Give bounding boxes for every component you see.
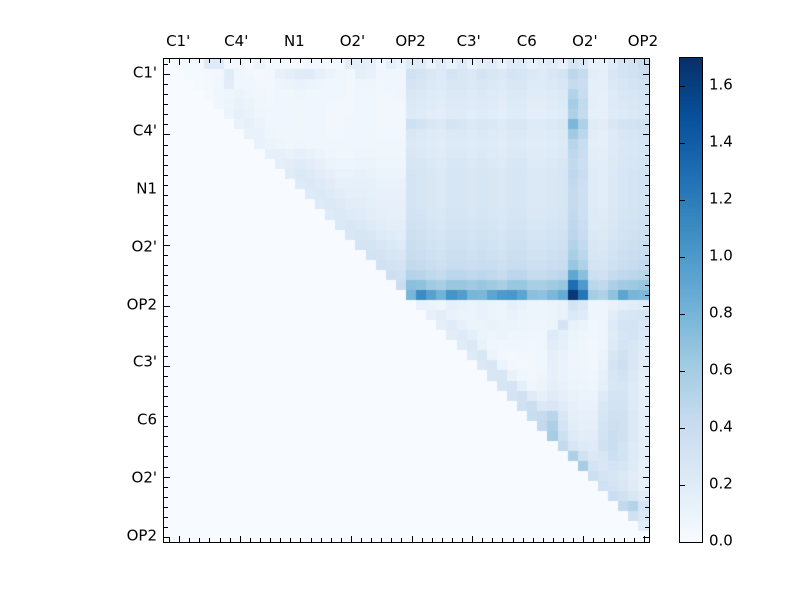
x-tick (230, 59, 231, 63)
y-tick (645, 326, 649, 327)
x-tick-label: O2' (340, 34, 365, 49)
x-tick (513, 538, 514, 542)
x-tick (290, 59, 291, 63)
x-tick (452, 538, 453, 542)
x-tick (513, 59, 514, 63)
y-tick (164, 316, 168, 317)
y-tick-label: C1' (133, 66, 157, 81)
y-tick (164, 497, 168, 498)
y-tick (645, 225, 649, 226)
y-tick (164, 185, 168, 186)
colorbar-tick (680, 542, 685, 543)
y-tick (645, 386, 649, 387)
x-tick (482, 59, 483, 63)
y-tick (164, 165, 168, 166)
y-tick (164, 517, 168, 518)
y-tick (164, 436, 168, 437)
y-tick (645, 195, 649, 196)
x-tick (371, 59, 372, 63)
x-tick (502, 59, 503, 63)
colorbar-tick (680, 428, 685, 429)
colorbar-tick-label: 0.6 (709, 363, 733, 378)
x-tick (492, 59, 493, 63)
x-tick (401, 59, 402, 63)
x-tick (432, 538, 433, 542)
y-tick (164, 336, 168, 337)
y-tick (164, 306, 170, 307)
y-tick-label: OP2 (127, 528, 157, 543)
y-tick (164, 396, 168, 397)
x-tick (452, 59, 453, 63)
x-tick (311, 538, 312, 542)
y-tick (164, 155, 168, 156)
y-tick (645, 507, 649, 508)
x-tick (189, 538, 190, 542)
x-tick (593, 538, 594, 542)
y-tick (164, 527, 168, 528)
y-tick (164, 346, 168, 347)
colorbar-tick-label: 1.0 (709, 249, 733, 264)
y-tick (164, 386, 168, 387)
colorbar-tick-label: 1.6 (709, 78, 733, 93)
x-tick (573, 538, 574, 542)
y-tick-label: OP2 (127, 297, 157, 312)
x-tick (482, 538, 483, 542)
x-tick (240, 59, 241, 65)
colorbar-tick (680, 314, 685, 315)
x-tick-label: C6 (517, 34, 537, 49)
y-tick (164, 537, 170, 538)
x-tick (533, 538, 534, 542)
x-tick (260, 59, 261, 63)
x-tick (260, 538, 261, 542)
y-tick (645, 346, 649, 347)
y-tick (645, 376, 649, 377)
x-tick (523, 538, 524, 542)
x-tick-label: OP2 (395, 34, 425, 49)
y-tick (164, 487, 168, 488)
x-tick (624, 59, 625, 63)
x-tick (199, 538, 200, 542)
y-tick (643, 306, 649, 307)
y-tick (645, 114, 649, 115)
y-tick (645, 406, 649, 407)
x-tick (391, 59, 392, 63)
x-tick (250, 59, 251, 63)
x-tick (634, 538, 635, 542)
y-tick (643, 134, 649, 135)
y-tick (164, 376, 168, 377)
x-tick (472, 59, 473, 65)
x-tick (422, 59, 423, 63)
y-tick (164, 446, 168, 447)
x-tick (341, 538, 342, 542)
x-tick (412, 536, 413, 542)
colorbar-tick-label: 0.8 (709, 306, 733, 321)
x-tick (462, 538, 463, 542)
x-tick (230, 538, 231, 542)
x-tick (634, 59, 635, 63)
colorbar-tick (680, 143, 685, 144)
heatmap-plot-area[interactable] (163, 58, 650, 543)
y-tick (645, 235, 649, 236)
x-tick (179, 59, 180, 65)
x-tick (624, 538, 625, 542)
y-tick (164, 285, 168, 286)
y-tick (645, 295, 649, 296)
y-tick (645, 396, 649, 397)
y-tick (164, 255, 168, 256)
y-tick (645, 215, 649, 216)
x-tick (361, 538, 362, 542)
colorbar-tick (680, 485, 685, 486)
x-tick-label: N1 (284, 34, 305, 49)
x-tick (209, 59, 210, 63)
x-tick (290, 538, 291, 542)
y-tick (164, 84, 168, 85)
y-tick (645, 104, 649, 105)
x-tick (220, 59, 221, 63)
y-tick (645, 94, 649, 95)
y-tick (645, 84, 649, 85)
y-tick-label: O2' (132, 239, 157, 254)
x-tick (199, 59, 200, 63)
colorbar-tick-label: 1.4 (709, 135, 733, 150)
x-tick (250, 538, 251, 542)
y-tick (164, 265, 168, 266)
y-tick (164, 94, 168, 95)
y-tick (645, 145, 649, 146)
colorbar[interactable] (679, 57, 703, 543)
y-tick-label: C4' (133, 123, 157, 138)
colorbar-gradient (680, 58, 702, 542)
y-tick-label: O2' (132, 471, 157, 486)
y-tick (164, 456, 168, 457)
y-tick (645, 456, 649, 457)
colorbar-tick-label: 0.4 (709, 420, 733, 435)
y-tick (645, 316, 649, 317)
colorbar-tick (680, 257, 685, 258)
x-tick (341, 59, 342, 63)
y-tick (164, 134, 170, 135)
x-tick (311, 59, 312, 63)
x-tick (169, 538, 170, 542)
colorbar-tick (680, 371, 685, 372)
x-tick (462, 59, 463, 63)
x-tick (270, 538, 271, 542)
x-tick (472, 536, 473, 542)
x-tick-label: OP2 (628, 34, 658, 49)
y-tick (643, 74, 649, 75)
y-tick (164, 467, 168, 468)
x-tick (209, 538, 210, 542)
x-tick (604, 59, 605, 63)
x-tick (321, 59, 322, 63)
x-tick (280, 538, 281, 542)
x-tick (583, 59, 584, 65)
colorbar-tick (680, 86, 685, 87)
x-tick (573, 59, 574, 63)
x-tick (553, 59, 554, 63)
x-tick (351, 536, 352, 542)
x-tick (412, 59, 413, 65)
y-tick (645, 205, 649, 206)
x-tick (300, 59, 301, 63)
x-tick (391, 538, 392, 542)
x-tick (604, 538, 605, 542)
y-tick-label: C3' (133, 355, 157, 370)
y-tick (164, 104, 168, 105)
y-tick (643, 537, 649, 538)
y-tick (645, 467, 649, 468)
y-tick (645, 446, 649, 447)
y-tick (645, 175, 649, 176)
colorbar-tick-label: 1.2 (709, 192, 733, 207)
x-tick-label: C4' (224, 34, 248, 49)
x-tick (543, 538, 544, 542)
x-tick (240, 536, 241, 542)
colorbar-tick (680, 200, 685, 201)
y-tick (164, 245, 170, 246)
y-tick (164, 406, 168, 407)
x-tick (300, 538, 301, 542)
y-tick (645, 416, 649, 417)
y-tick (645, 285, 649, 286)
y-tick (164, 356, 168, 357)
y-tick (164, 145, 168, 146)
y-tick (645, 336, 649, 337)
x-tick (321, 538, 322, 542)
y-tick (645, 275, 649, 276)
y-tick (645, 255, 649, 256)
colorbar-tick-label: 0.0 (709, 534, 733, 549)
y-tick (645, 124, 649, 125)
y-tick (164, 74, 170, 75)
x-tick (371, 538, 372, 542)
y-tick (164, 366, 170, 367)
y-tick (643, 477, 649, 478)
x-tick (614, 59, 615, 63)
y-tick (164, 175, 168, 176)
x-tick (442, 59, 443, 63)
y-tick (164, 507, 168, 508)
y-tick (164, 295, 168, 296)
y-tick (645, 356, 649, 357)
y-tick (164, 225, 168, 226)
x-tick (351, 59, 352, 65)
y-tick (645, 487, 649, 488)
x-tick (179, 536, 180, 542)
x-tick-label: C3' (457, 34, 481, 49)
heatmap-figure: C1'C4'N1O2'OP2C3'C6O2'OP2 C1'C4'N1O2'OP2… (0, 0, 800, 600)
y-tick (164, 235, 168, 236)
y-tick (164, 426, 168, 427)
x-tick (361, 59, 362, 63)
x-tick-label: O2' (572, 34, 597, 49)
x-tick (381, 59, 382, 63)
y-tick (164, 114, 168, 115)
x-tick (563, 538, 564, 542)
y-tick-label: C6 (137, 413, 157, 428)
x-tick (583, 536, 584, 542)
x-tick (543, 59, 544, 63)
y-tick (164, 477, 170, 478)
x-tick (331, 538, 332, 542)
x-tick (563, 59, 564, 63)
y-tick (164, 205, 168, 206)
x-tick (280, 59, 281, 63)
y-tick (645, 165, 649, 166)
y-tick (645, 517, 649, 518)
x-tick (270, 59, 271, 63)
x-tick (533, 59, 534, 63)
y-tick (164, 275, 168, 276)
x-tick (614, 538, 615, 542)
y-tick (645, 185, 649, 186)
x-tick (169, 59, 170, 63)
x-tick (553, 538, 554, 542)
y-tick (643, 366, 649, 367)
x-tick (401, 538, 402, 542)
x-tick (432, 59, 433, 63)
x-tick (593, 59, 594, 63)
y-tick (164, 124, 168, 125)
x-tick (442, 538, 443, 542)
y-tick-label: N1 (136, 181, 157, 196)
x-tick (422, 538, 423, 542)
x-tick (502, 538, 503, 542)
colorbar-tick-label: 0.2 (709, 477, 733, 492)
y-tick (645, 64, 649, 65)
y-tick (645, 265, 649, 266)
y-tick (645, 527, 649, 528)
y-tick (164, 195, 168, 196)
x-tick (331, 59, 332, 63)
y-tick (643, 245, 649, 246)
x-tick-label: C1' (166, 34, 190, 49)
heatmap-cells[interactable] (164, 59, 649, 542)
y-tick (164, 416, 168, 417)
y-tick (645, 497, 649, 498)
x-tick (189, 59, 190, 63)
y-tick (645, 436, 649, 437)
x-tick (381, 538, 382, 542)
y-tick (164, 64, 168, 65)
y-tick (164, 326, 168, 327)
y-tick (645, 155, 649, 156)
x-tick (220, 538, 221, 542)
x-tick (492, 538, 493, 542)
y-tick (645, 426, 649, 427)
x-tick (523, 59, 524, 63)
y-tick (164, 215, 168, 216)
